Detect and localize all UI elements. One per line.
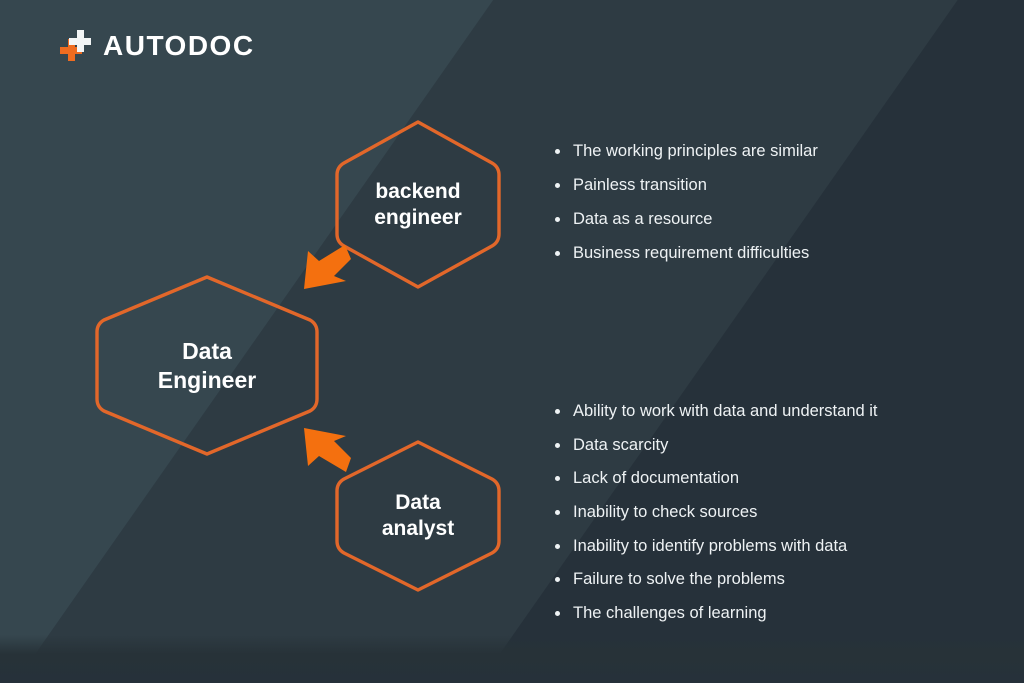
list-item: Inability to check sources [552, 503, 878, 521]
list-backend-engineer-points: The working principles are similar Painl… [552, 142, 818, 279]
list-data-analyst-points: Ability to work with data and understand… [552, 402, 878, 637]
list-item: Business requirement difficulties [552, 244, 818, 262]
node-data-engineer-label: Data Engineer [158, 337, 256, 393]
node-data-analyst-label: Data analyst [382, 490, 454, 541]
list-item: Failure to solve the problems [552, 570, 878, 588]
list-item: Lack of documentation [552, 469, 878, 487]
node-backend-engineer-label: backend engineer [374, 179, 462, 230]
node-data-engineer: Data Engineer [92, 272, 322, 459]
list-item: Ability to work with data and understand… [552, 402, 878, 420]
brand-logo: AUTODOC [60, 30, 255, 62]
background-bottom-fade [0, 635, 1024, 683]
infographic-canvas: AUTODOC backend engineer Data Engineer D… [0, 0, 1024, 683]
node-data-analyst: Data analyst [332, 437, 504, 595]
list-item: The working principles are similar [552, 142, 818, 160]
arrow-up-left-icon [295, 424, 353, 476]
brand-name: AUTODOC [103, 30, 255, 62]
list-item: The challenges of learning [552, 604, 878, 622]
list-item: Inability to identify problems with data [552, 537, 878, 555]
plus-white-shape [69, 30, 91, 52]
arrow-down-left-icon [295, 241, 353, 293]
node-backend-engineer: backend engineer [332, 117, 504, 292]
list-item: Data scarcity [552, 436, 878, 454]
list-item: Data as a resource [552, 210, 818, 228]
list-item: Painless transition [552, 176, 818, 194]
autodoc-plus-icon [60, 30, 92, 62]
